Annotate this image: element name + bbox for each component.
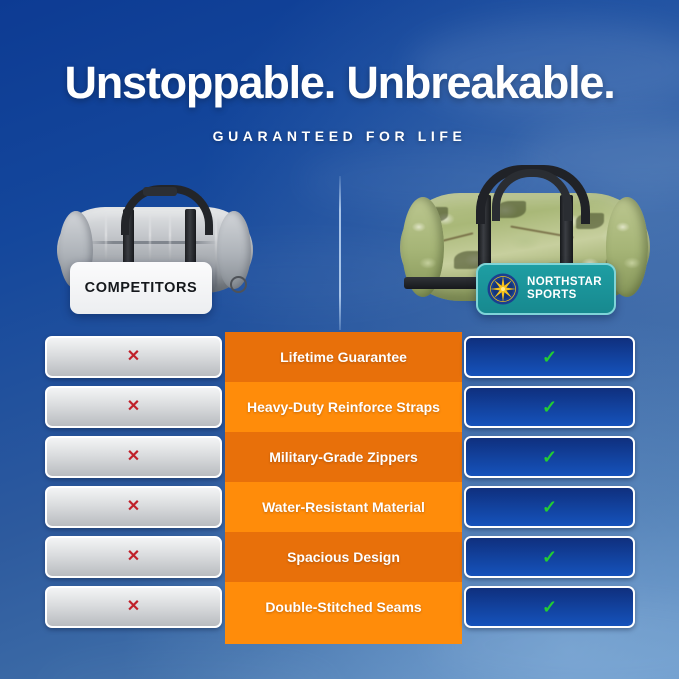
page-title: Unstoppable. Unbreakable.: [0, 57, 679, 109]
check-icon: ✓: [542, 448, 557, 466]
feature-label: Spacious Design: [225, 532, 462, 582]
feature-label: Double-Stitched Seams: [225, 582, 462, 632]
table-row: ✕ Lifetime Guarantee ✓: [0, 336, 679, 378]
check-icon: ✓: [542, 398, 557, 416]
competitor-cell: ✕: [45, 586, 222, 628]
cross-icon: ✕: [127, 499, 140, 515]
brand-cell: ✓: [464, 336, 635, 378]
check-icon: ✓: [542, 348, 557, 366]
feature-label: Water-Resistant Material: [225, 482, 462, 532]
competitors-label-badge: COMPETITORS: [70, 262, 212, 314]
brand-name-line1: NORTHSTAR: [527, 276, 602, 288]
cross-icon: ✕: [127, 599, 140, 615]
table-row: ✕ Water-Resistant Material ✓: [0, 486, 679, 528]
vertical-divider: [339, 176, 341, 330]
competitor-cell: ✕: [45, 536, 222, 578]
cross-icon: ✕: [127, 349, 140, 365]
product-comparison-infographic: Unstoppable. Unbreakable. GUARANTEED FOR…: [0, 0, 679, 679]
page-subtitle: GUARANTEED FOR LIFE: [0, 128, 679, 144]
feature-label: Lifetime Guarantee: [225, 332, 462, 382]
table-row: ✕ Double-Stitched Seams ✓: [0, 586, 679, 628]
competitor-cell: ✕: [45, 386, 222, 428]
cross-icon: ✕: [127, 399, 140, 415]
brand-cell: ✓: [464, 486, 635, 528]
cross-icon: ✕: [127, 549, 140, 565]
competitors-label-text: COMPETITORS: [85, 280, 198, 296]
brand-cell: ✓: [464, 586, 635, 628]
competitor-cell: ✕: [45, 486, 222, 528]
orange-column-tail: [225, 632, 462, 644]
table-row: ✕ Spacious Design ✓: [0, 536, 679, 578]
check-icon: ✓: [542, 598, 557, 616]
brand-cell: ✓: [464, 536, 635, 578]
brand-cell: ✓: [464, 436, 635, 478]
check-icon: ✓: [542, 498, 557, 516]
cross-icon: ✕: [127, 449, 140, 465]
table-row: ✕ Military-Grade Zippers ✓: [0, 436, 679, 478]
competitor-cell: ✕: [45, 336, 222, 378]
table-row: ✕ Heavy-Duty Reinforce Straps ✓: [0, 386, 679, 428]
compass-star-icon: [487, 273, 519, 305]
feature-label: Heavy-Duty Reinforce Straps: [225, 382, 462, 432]
bag-wrinkle: [215, 213, 217, 287]
competitor-cell: ✕: [45, 436, 222, 478]
brand-name-line2: SPORTS: [527, 289, 577, 301]
comparison-table: ✕ Lifetime Guarantee ✓ ✕ Heavy-Duty Rein…: [0, 336, 679, 636]
feature-label: Military-Grade Zippers: [225, 432, 462, 482]
check-icon: ✓: [542, 548, 557, 566]
bag-handle-grip: [143, 187, 177, 196]
brand-name-text: NORTHSTAR SPORTS: [527, 276, 602, 302]
bag-d-ring: [230, 276, 247, 293]
northstar-brand-badge: NORTHSTAR SPORTS: [476, 263, 616, 315]
brand-cell: ✓: [464, 386, 635, 428]
